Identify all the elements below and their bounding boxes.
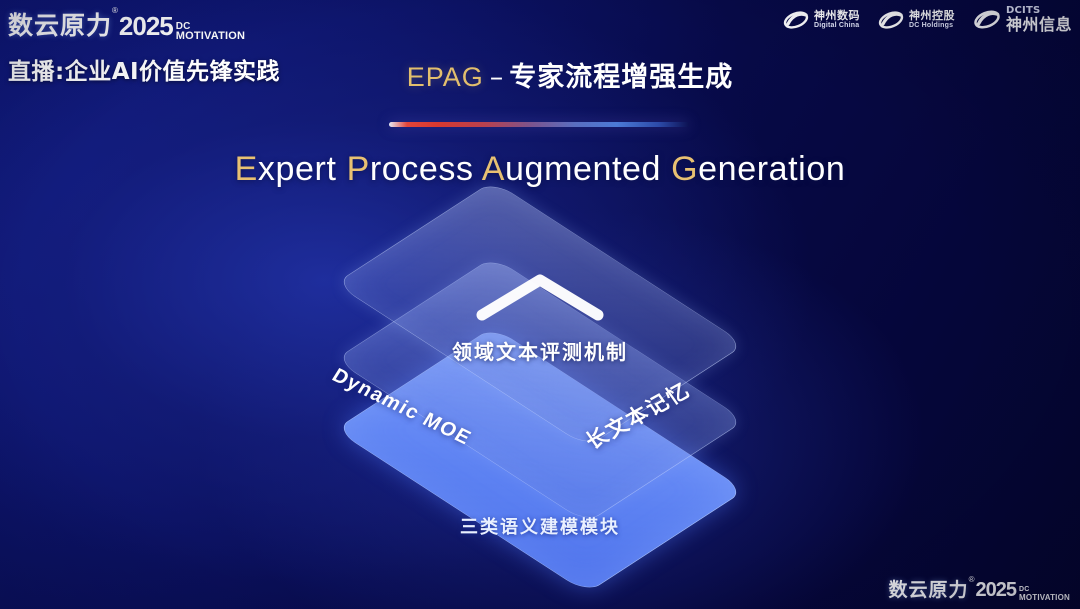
brand-logo-cn: 数云原力 (8, 6, 112, 42)
watermark-motivation: MOTIVATION (1019, 594, 1070, 601)
subtitle-cap-a: A (482, 150, 505, 188)
swoosh-icon (878, 10, 904, 30)
partner-name-cn: 神州数码 (814, 10, 860, 22)
title-chinese: 专家流程增强生成 (509, 62, 733, 93)
partner-name-en: DC Holdings (909, 22, 955, 29)
subtitle-rest-expert: xpert (258, 150, 337, 188)
watermark-year: 2025 (975, 579, 1016, 602)
brand-watermark: 数云原力 ® 2025 DC MOTIVATION (889, 575, 1070, 602)
title-acronym: EPAG (407, 62, 484, 92)
swoosh-icon (973, 9, 1001, 30)
brand-logo-year: 2025 (119, 11, 173, 42)
title-dash: – (490, 62, 504, 93)
partner-logos: 神州数码 Digital China 神州控股 DC Holdings DCIT… (783, 6, 1072, 33)
page-title: EPAG–专家流程增强生成 (0, 55, 1080, 94)
presentation-slide: 数云原力 ® 2025 DC MOTIVATION 直播:企业AI价值先锋实践 … (0, 0, 1080, 609)
subtitle-cap-e: E (235, 150, 258, 188)
subtitle-cap-p: P (347, 150, 370, 188)
partner-name-en: Digital China (814, 22, 860, 29)
brand-logo-dc-motivation: DC MOTIVATION (176, 22, 245, 41)
partner-name-cn: 神州控股 (909, 10, 955, 22)
brand-logo-motivation: MOTIVATION (176, 31, 245, 41)
subtitle-rest-augmented: ugmented (505, 150, 661, 188)
subtitle-rest-generation: eneration (698, 150, 845, 188)
watermark-dc-motivation: DC MOTIVATION (1019, 587, 1070, 601)
registered-mark-icon: ® (969, 575, 975, 584)
gradient-divider (389, 122, 689, 127)
subtitle: Expert Process Augmented Generation (0, 150, 1080, 189)
swoosh-icon (783, 10, 809, 30)
registered-mark-icon: ® (112, 6, 118, 15)
subtitle-rest-process: rocess (370, 150, 474, 188)
layered-stack-diagram: 领域文本评测机制 Dynamic MOE 长文本记忆 三类语义建模模块 (280, 228, 800, 568)
subtitle-cap-g: G (671, 150, 698, 188)
watermark-cn: 数云原力 (889, 575, 969, 602)
partner-logo-dcits: DCITS 神州信息 (973, 6, 1072, 33)
partner-logo-dc-holdings: 神州控股 DC Holdings (878, 10, 955, 30)
brand-logo: 数云原力 ® 2025 DC MOTIVATION (8, 6, 245, 42)
partner-name-cn: 神州信息 (1006, 17, 1072, 34)
partner-logo-digital-china: 神州数码 Digital China (783, 10, 860, 30)
